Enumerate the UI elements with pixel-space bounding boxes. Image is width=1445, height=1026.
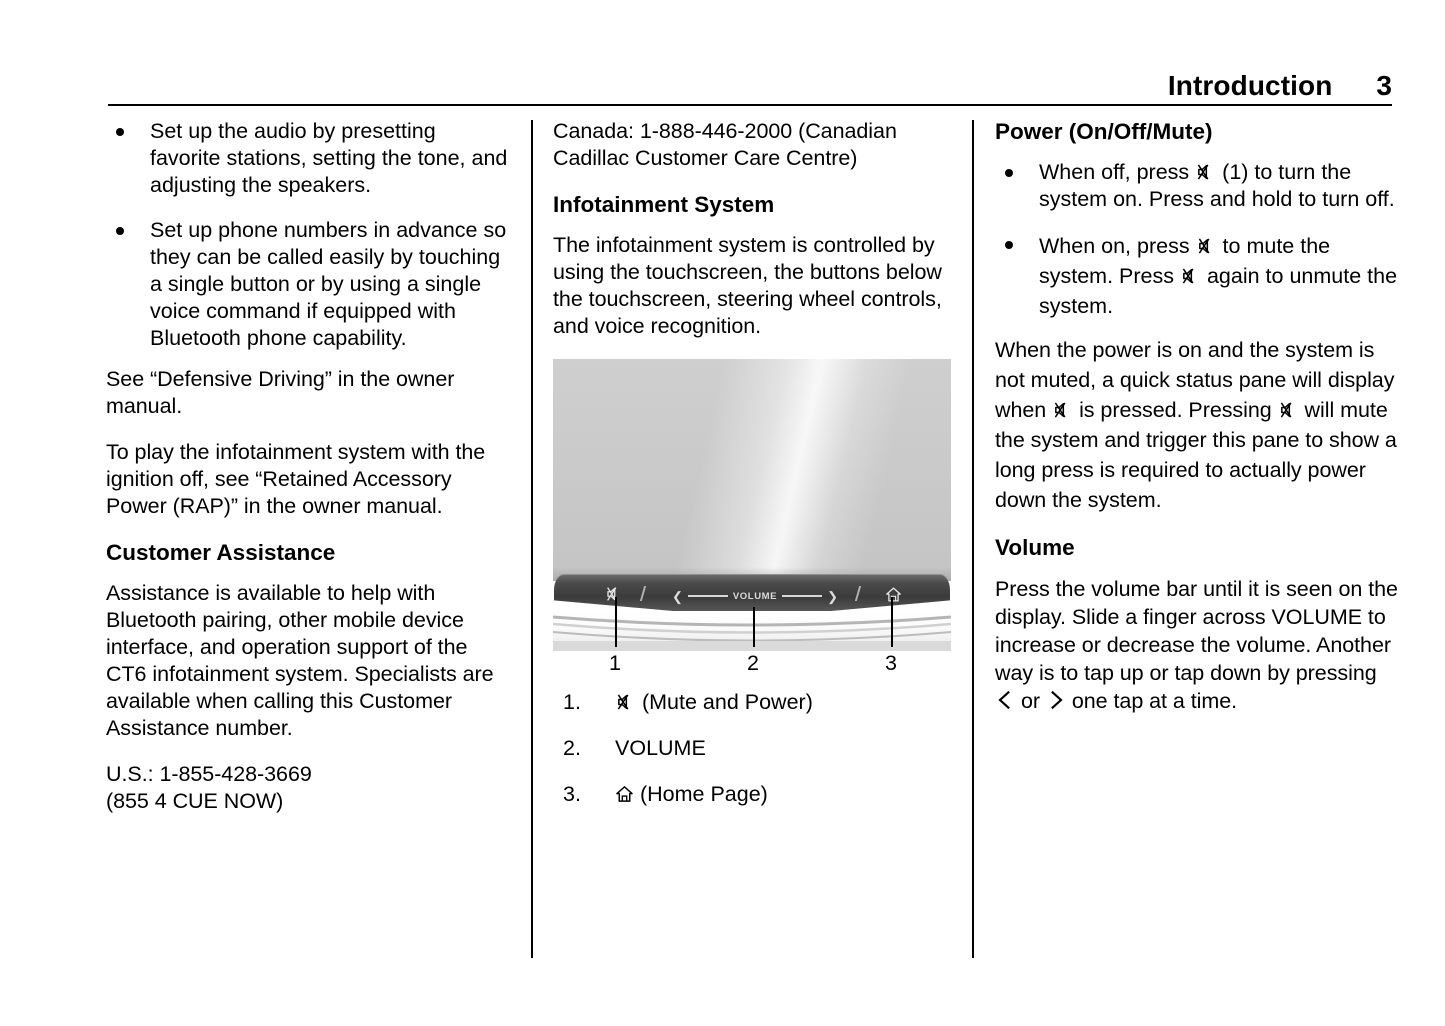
page-title: Introduction [1168, 72, 1333, 100]
mute-and-power-icon [615, 692, 636, 712]
paragraph-part-b: one tap at a time. [1072, 689, 1237, 713]
callout-line-3 [891, 597, 893, 647]
home-page-icon [885, 586, 902, 603]
list-item: When off, press (1) to turn the system o… [995, 159, 1400, 213]
volume-paragraph: Press the volume bar until it is seen on… [995, 575, 1400, 715]
mute-and-power-icon [605, 585, 623, 603]
mute-and-power-icon [1195, 162, 1216, 182]
customer-assistance-paragraph: Assistance is available to help with Blu… [106, 580, 511, 742]
infotainment-system-paragraph: The infotainment system is controlled by… [553, 232, 958, 340]
bullet-text-part-a: When off, press [1039, 160, 1189, 184]
bullet-text-part-a: When on, press [1039, 234, 1190, 258]
infotainment-figure: ❮ VOLUME ❯ [553, 359, 951, 681]
or-text: or [1021, 689, 1040, 713]
callout-number-2: 2 [747, 651, 759, 675]
defensive-driving-paragraph: See “Defensive Driving” in the owner man… [106, 366, 511, 420]
volume-label: VOLUME [733, 591, 777, 602]
list-item: Set up phone numbers in advance so they … [106, 217, 511, 352]
power-bullet-list: When off, press (1) to turn the system o… [995, 159, 1400, 321]
chevron-right-icon: ❯ [827, 590, 838, 603]
volume-dash-left [688, 595, 728, 597]
chevron-left-icon [995, 688, 1015, 712]
chevron-left-icon: ❮ [672, 590, 683, 603]
us-phone-line-1: U.S.: 1-855-428-3669 [106, 762, 312, 786]
page-header: Introduction 3 [108, 48, 1392, 100]
mute-and-power-icon [1180, 266, 1201, 286]
volume-control-strip: ❮ VOLUME ❯ [672, 588, 838, 604]
legend-number-3: 3. [563, 781, 581, 808]
list-item: 1. (Mute and Power) [553, 689, 958, 716]
home-page-icon [615, 784, 634, 804]
mute-and-power-icon [1278, 400, 1299, 420]
header-rule [108, 104, 1392, 106]
right-column: Power (On/Off/Mute) When off, press (1) … [995, 118, 1400, 734]
page-number: 3 [1376, 72, 1392, 100]
figure-legend-list: 1. (Mute and Power) 2. VOLUME 3. [553, 689, 958, 808]
us-phone-line-2: (855 4 CUE NOW) [106, 789, 283, 813]
touchscreen-face [553, 359, 951, 581]
list-item: 3. (Home Page) [553, 781, 958, 808]
column-divider-1 [531, 120, 533, 958]
list-item: 2. VOLUME [553, 735, 958, 762]
middle-column: Canada: 1-888-446-2000 (Canadian Cadilla… [553, 118, 958, 827]
list-item: When on, press to mute the system. Press [995, 231, 1400, 321]
heading-customer-assistance: Customer Assistance [106, 539, 511, 567]
canada-phone-number: Canada: 1-888-446-2000 (Canadian Cadilla… [553, 118, 958, 172]
bullet-dot-icon [116, 227, 124, 235]
legend-label-3: (Home Page) [640, 782, 768, 806]
bullet-dot-icon [1005, 241, 1013, 249]
quick-status-pane-paragraph: When the power is on and the system is n… [995, 335, 1400, 515]
legend-number-1: 1. [563, 689, 581, 716]
legend-label-1: (Mute and Power) [642, 690, 813, 714]
column-divider-2 [972, 120, 974, 958]
callout-line-2 [753, 607, 755, 647]
left-column: Set up the audio by presetting favorite … [106, 118, 511, 815]
volume-dash-right [782, 595, 822, 597]
list-item: Set up the audio by presetting favorite … [106, 118, 511, 199]
callout-number-3: 3 [885, 651, 897, 675]
bullet-text: Set up phone numbers in advance so they … [150, 218, 506, 350]
mute-and-power-icon [1052, 400, 1073, 420]
callout-number-1: 1 [609, 651, 621, 675]
figure-image: ❮ VOLUME ❯ [553, 359, 951, 651]
chevron-right-icon [1046, 688, 1066, 712]
retained-accessory-power-paragraph: To play the infotainment system with the… [106, 439, 511, 520]
paragraph-part-b: is pressed. Pressing [1079, 398, 1272, 422]
callout-numbers: 1 2 3 [553, 651, 951, 681]
content-columns: Set up the audio by presetting favorite … [0, 118, 1445, 963]
left-bullet-list: Set up the audio by presetting favorite … [106, 118, 511, 352]
bullet-text: Set up the audio by presetting favorite … [150, 119, 507, 197]
mute-and-power-icon [1196, 236, 1217, 256]
bullet-dot-icon [116, 128, 124, 136]
paragraph-part-a: Press the volume bar until it is seen on… [995, 577, 1398, 685]
callout-line-1 [615, 597, 617, 647]
us-phone-number: U.S.: 1-855-428-3669 (855 4 CUE NOW) [106, 761, 511, 815]
heading-volume: Volume [995, 534, 1400, 562]
bullet-dot-icon [1005, 169, 1013, 177]
heading-infotainment-system: Infotainment System [553, 191, 958, 219]
heading-power: Power (On/Off/Mute) [995, 118, 1400, 146]
legend-label-2: VOLUME [615, 736, 706, 760]
legend-number-2: 2. [563, 735, 581, 762]
